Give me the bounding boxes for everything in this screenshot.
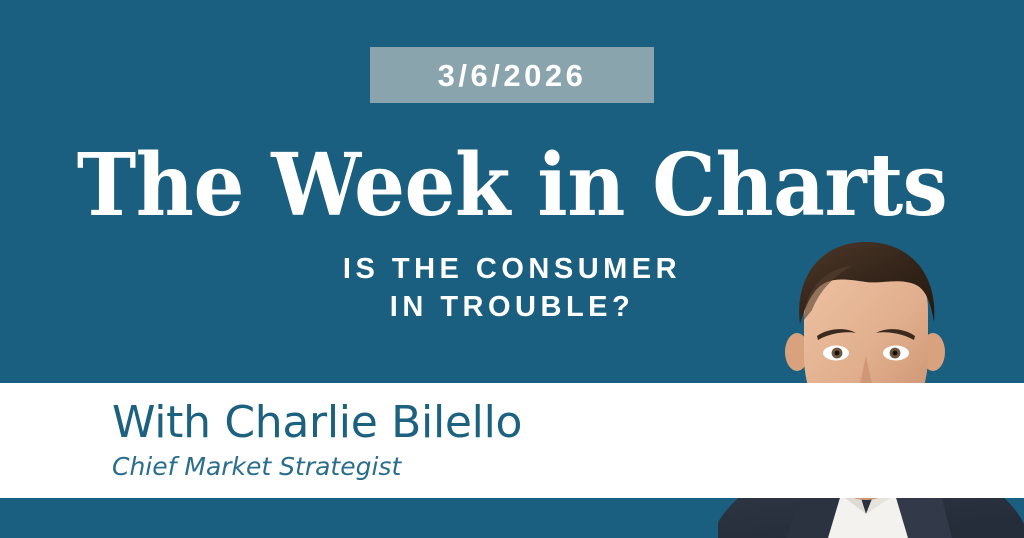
presenter-role: Chief Market Strategist <box>112 451 672 483</box>
pupil-left <box>835 351 840 356</box>
date-badge: 3/6/2026 <box>370 47 654 103</box>
presenter-name: With Charlie Bilello <box>112 398 672 448</box>
pupil-right <box>893 351 898 356</box>
presenter-portrait <box>700 232 1024 538</box>
date-badge-label: 3/6/2026 <box>438 60 587 91</box>
presenter-block: With Charlie Bilello Chief Market Strate… <box>112 398 672 483</box>
page-title: The Week in Charts <box>36 140 988 232</box>
portrait-white-backdrop <box>700 383 1024 498</box>
week-in-charts-title-card: 3/6/2026 The Week in Charts Is the Consu… <box>0 0 1024 538</box>
